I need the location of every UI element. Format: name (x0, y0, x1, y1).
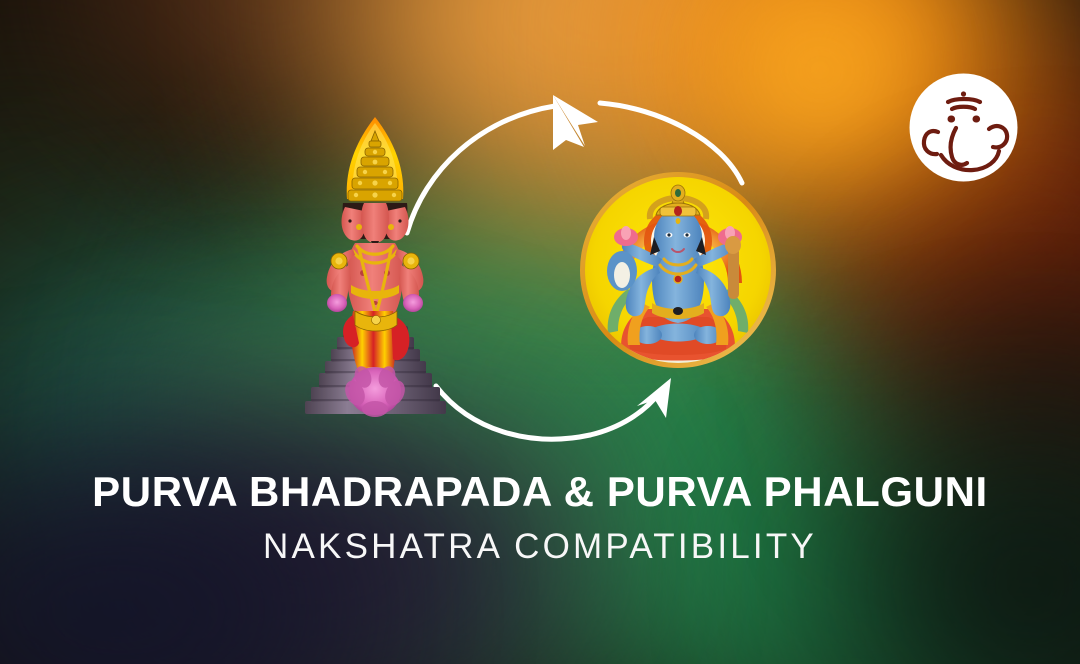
ganesha-logo[interactable] (907, 71, 1020, 184)
bindu-dot-icon (961, 91, 966, 96)
nakshatra-compatibility-banner: PURVA BHADRAPADA & PURVA PHALGUNI NAKSHA… (0, 0, 1080, 664)
title-block: PURVA BHADRAPADA & PURVA PHALGUNI NAKSHA… (0, 470, 1080, 568)
bhaga-deity-medallion (578, 163, 778, 377)
page-title: PURVA BHADRAPADA & PURVA PHALGUNI (0, 470, 1080, 514)
deity-heads (342, 203, 409, 246)
page-subtitle: NAKSHATRA COMPATIBILITY (0, 526, 1080, 568)
aja-ekapada-deity-figure (293, 115, 458, 420)
arrow-curve-left-to-right-icon (436, 378, 671, 439)
